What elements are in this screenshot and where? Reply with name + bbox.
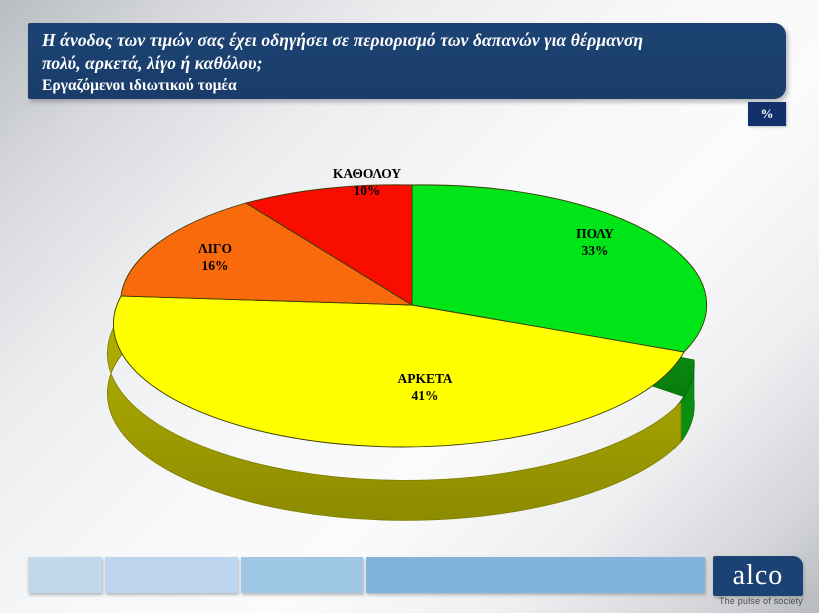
alco-logo-text: alco: [733, 561, 784, 591]
slice-label-poly-value: 33%: [535, 242, 655, 259]
slice-label-katholou-name: ΚΑΘΟΛΟΥ: [292, 165, 442, 182]
pie-chart: ΠΟΛΥ 33% ΑΡΚΕΤΑ 41% ΛΙΓΟ 16% ΚΑΘΟΛΟΥ 10%: [60, 130, 760, 530]
title-subtitle: Εργαζόμενοι ιδιωτικού τομέα: [42, 75, 772, 96]
footer-bar-4: [366, 557, 705, 593]
alco-logo: alco: [713, 556, 803, 596]
footer-bar-2: [105, 557, 238, 593]
slice-label-ligo: ΛΙΓΟ 16%: [160, 240, 270, 274]
slice-label-katholou: ΚΑΘΟΛΟΥ 10%: [292, 165, 442, 199]
slice-label-katholou-value: 10%: [292, 182, 442, 199]
slice-label-arketa-value: 41%: [360, 387, 490, 404]
footer-bar-3: [241, 557, 363, 593]
alco-logo-tagline: The pulse of society: [713, 596, 809, 606]
slice-label-ligo-value: 16%: [160, 257, 270, 274]
title-line-2: πολύ, αρκετά, λίγο ή καθόλου;: [42, 52, 772, 75]
slice-label-arketa-name: ΑΡΚΕΤΑ: [360, 370, 490, 387]
slice-label-arketa: ΑΡΚΕΤΑ 41%: [360, 370, 490, 404]
slice-label-poly: ΠΟΛΥ 33%: [535, 225, 655, 259]
title-line-1: Η άνοδος των τιμών σας έχει οδηγήσει σε …: [42, 29, 772, 52]
slice-label-poly-name: ΠΟΛΥ: [535, 225, 655, 242]
slide-canvas: Η άνοδος των τιμών σας έχει οδηγήσει σε …: [0, 0, 819, 613]
percent-unit-badge: %: [748, 102, 786, 126]
slice-label-ligo-name: ΛΙΓΟ: [160, 240, 270, 257]
footer-decoration-bars: [0, 557, 819, 594]
footer-bar-1: [28, 557, 102, 593]
title-banner: Η άνοδος των τιμών σας έχει οδηγήσει σε …: [28, 23, 786, 99]
